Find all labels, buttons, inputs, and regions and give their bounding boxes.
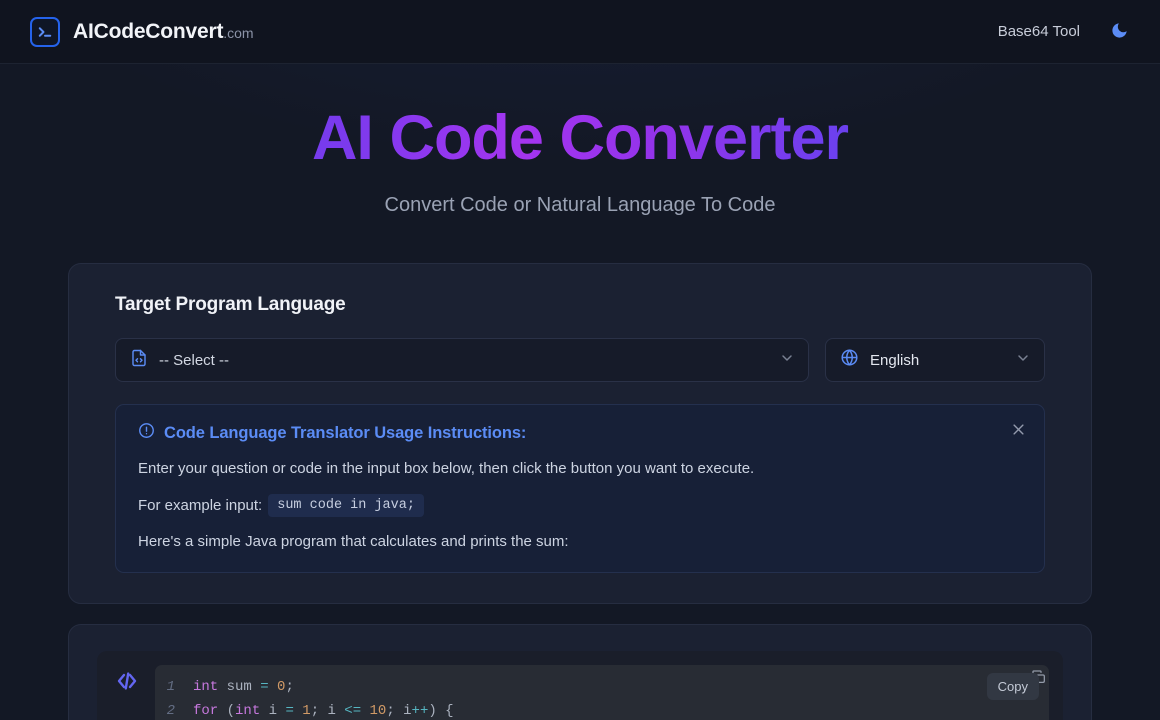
page-subtitle: Convert Code or Natural Language To Code	[0, 194, 1160, 217]
line-number: 1	[163, 675, 193, 699]
nav-link-base64-tool[interactable]: Base64 Tool	[998, 23, 1080, 40]
code-token: i	[260, 703, 285, 719]
brand-tld-text: .com	[223, 25, 253, 41]
converter-card: Target Program Language -- Select --	[68, 263, 1092, 604]
moon-icon	[1110, 21, 1129, 43]
brand-name-text: AICodeConvert	[73, 20, 223, 43]
code-token: int	[235, 703, 260, 719]
ui-language-value: English	[870, 352, 1004, 369]
code-shell: Copy 1int sum = 0;2for (int i = 1; i <= …	[97, 651, 1063, 720]
instructions-line-3: Here's a simple Java program that calcul…	[138, 532, 1022, 552]
section-title-target-language: Target Program Language	[115, 294, 1045, 316]
code-token: 10	[370, 703, 387, 719]
code-result-card: Copy 1int sum = 0;2for (int i = 1; i <= …	[68, 624, 1092, 720]
file-code-icon	[130, 349, 148, 372]
code-brackets-icon	[111, 665, 143, 720]
code-token: ) {	[428, 703, 453, 719]
code-output-area: Copy 1int sum = 0;2for (int i = 1; i <= …	[155, 665, 1049, 720]
ui-language-select[interactable]: English	[825, 338, 1045, 382]
page-title: AI Code Converter	[0, 104, 1160, 172]
target-language-select[interactable]: -- Select --	[115, 338, 809, 382]
code-token: ; i	[386, 703, 411, 719]
code-token: ;	[285, 679, 293, 695]
code-token: ; i	[311, 703, 345, 719]
line-content: for (int i = 1; i <= 10; i++) {	[193, 699, 454, 720]
code-token: ++	[412, 703, 429, 719]
instructions-line-1: Enter your question or code in the input…	[138, 459, 1022, 479]
alert-circle-icon	[138, 422, 155, 444]
line-content: int sum = 0;	[193, 675, 294, 699]
code-line: 1int sum = 0;	[163, 675, 1049, 699]
brand-name: AICodeConvert.com	[73, 20, 254, 44]
code-token: (	[218, 703, 235, 719]
code-token: =	[260, 679, 268, 695]
terminal-prompt-icon	[30, 17, 60, 47]
header-actions: Base64 Tool	[998, 19, 1132, 45]
chevron-down-icon	[779, 350, 795, 371]
instructions-heading-text: Code Language Translator Usage Instructi…	[164, 424, 526, 443]
code-token: for	[193, 703, 218, 719]
globe-icon	[840, 348, 859, 372]
usage-instructions-panel: Code Language Translator Usage Instructi…	[115, 404, 1045, 573]
close-icon[interactable]	[1006, 417, 1030, 441]
code-token: int	[193, 679, 218, 695]
language-controls-row: -- Select -- English	[115, 338, 1045, 382]
instructions-example-code: sum code in java;	[268, 494, 424, 518]
chevron-down-icon	[1015, 350, 1031, 371]
copy-button[interactable]: Copy	[987, 673, 1039, 700]
line-number: 2	[163, 699, 193, 720]
brand-logo[interactable]: AICodeConvert.com	[30, 17, 254, 47]
code-line: 2for (int i = 1; i <= 10; i++) {	[163, 699, 1049, 720]
code-lines: 1int sum = 0;2for (int i = 1; i <= 10; i…	[155, 675, 1049, 720]
site-header: AICodeConvert.com Base64 Tool	[0, 0, 1160, 64]
instructions-line-2: For example input:sum code in java;	[138, 494, 1022, 518]
code-token: <=	[344, 703, 361, 719]
app-root: AICodeConvert.com Base64 Tool AI Code Co…	[0, 0, 1160, 720]
target-language-value: -- Select --	[159, 352, 768, 369]
instructions-example-prefix: For example input:	[138, 496, 262, 513]
code-token: =	[285, 703, 293, 719]
instructions-heading-row: Code Language Translator Usage Instructi…	[138, 422, 1022, 444]
theme-toggle-button[interactable]	[1106, 19, 1132, 45]
hero-section: AI Code Converter Convert Code or Natura…	[0, 64, 1160, 217]
code-token	[269, 679, 277, 695]
code-token: sum	[218, 679, 260, 695]
code-token	[361, 703, 369, 719]
code-token: 1	[302, 703, 310, 719]
